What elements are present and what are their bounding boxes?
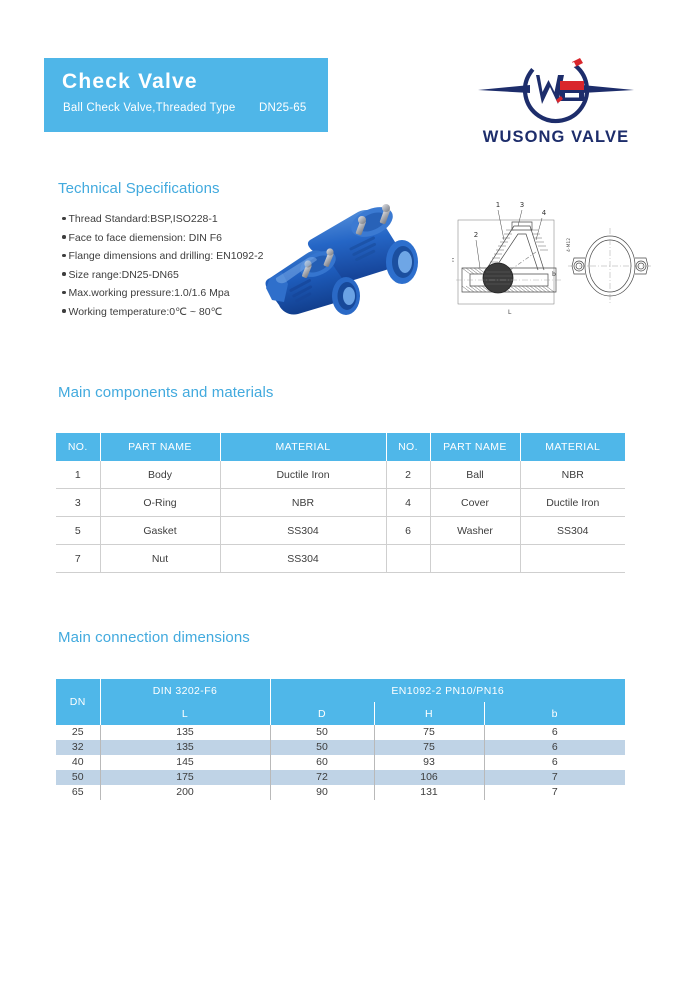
bullet-icon	[62, 235, 66, 239]
comp-header-mat-2: MATERIAL	[520, 433, 625, 461]
dim-header-L: L	[100, 702, 270, 725]
table-cell: 135	[100, 740, 270, 755]
table-cell: 4	[386, 489, 430, 517]
table-cell: 6	[386, 517, 430, 545]
table-cell: 93	[374, 755, 484, 770]
table-cell: 145	[100, 755, 270, 770]
dim-header-b: b	[484, 702, 625, 725]
dim-label-b: b	[552, 271, 556, 278]
dim-label-L: L	[508, 309, 512, 316]
table-cell: SS304	[220, 545, 386, 573]
table-cell: 75	[374, 740, 484, 755]
table-cell: 3	[56, 489, 100, 517]
comp-header-no-2: NO.	[386, 433, 430, 461]
valve-section-drawing: 1 3 4 2 H L b	[452, 196, 572, 316]
callout-3: 3	[520, 201, 524, 209]
table-cell: 25	[56, 725, 100, 740]
table-cell: Gasket	[100, 517, 220, 545]
product-size-range: DN25-65	[259, 102, 306, 114]
table-cell	[430, 545, 520, 573]
company-logo: WUSONG VALVE	[468, 52, 644, 160]
spec-item-label: Thread Standard:BSP,ISO228-1	[69, 213, 218, 225]
table-cell: 50	[270, 725, 374, 740]
table-cell: SS304	[220, 517, 386, 545]
table-row: 4014560936	[56, 755, 625, 770]
section-heading-dimensions: Main connection dimensions	[58, 629, 250, 646]
table-cell: 106	[374, 770, 484, 785]
table-cell: Body	[100, 461, 220, 489]
product-subtitle: Ball Check Valve,Threaded Type	[63, 102, 235, 114]
bullet-icon	[62, 272, 66, 276]
valve-front-view-drawing: 4-M12	[566, 222, 654, 310]
table-cell: 7	[484, 770, 625, 785]
bullet-icon	[62, 309, 66, 313]
table-cell: 72	[270, 770, 374, 785]
dimensions-sub-header-row: L D H b	[56, 702, 625, 725]
table-cell: 6	[484, 755, 625, 770]
table-cell: 50	[56, 770, 100, 785]
table-cell: 135	[100, 725, 270, 740]
components-table-header-row: NO. PART NAME MATERIAL NO. PART NAME MAT…	[56, 433, 625, 461]
callout-2: 2	[474, 231, 478, 239]
section-heading-technical: Technical Specifications	[58, 180, 220, 197]
table-cell	[386, 545, 430, 573]
table-cell: 7	[484, 785, 625, 800]
spec-item-label: Size range:DN25-DN65	[69, 269, 179, 281]
bullet-icon	[62, 217, 66, 221]
table-cell: Ductile Iron	[220, 461, 386, 489]
table-cell: 90	[270, 785, 374, 800]
table-cell: 65	[56, 785, 100, 800]
table-cell: SS304	[520, 517, 625, 545]
table-cell: Ductile Iron	[520, 489, 625, 517]
table-cell: 6	[484, 740, 625, 755]
table-cell: 175	[100, 770, 270, 785]
table-cell: Ball	[430, 461, 520, 489]
table-row: 7NutSS304	[56, 545, 625, 573]
spec-item-label: Max.working pressure:1.0/1.6 Mpa	[69, 287, 230, 299]
table-row: 2513550756	[56, 725, 625, 740]
table-row: 3213550756	[56, 740, 625, 755]
table-row: 3O-RingNBR4CoverDuctile Iron	[56, 489, 625, 517]
callout-1: 1	[496, 201, 500, 209]
spec-item-label: Working temperature:0℃ ~ 80℃	[69, 306, 223, 318]
table-cell: 200	[100, 785, 270, 800]
table-cell: 2	[386, 461, 430, 489]
dim-header-din-group: DIN 3202-F6	[100, 679, 270, 702]
section-heading-components: Main components and materials	[58, 384, 274, 401]
table-cell: NBR	[220, 489, 386, 517]
bullet-icon	[62, 291, 66, 295]
dim-header-D: D	[270, 702, 374, 725]
front-view-note: 4-M12	[566, 238, 572, 252]
brand-name: WUSONG VALVE	[468, 128, 644, 147]
dim-header-en-group: EN1092-2 PN10/PN16	[270, 679, 625, 702]
page-title: Check Valve	[62, 70, 198, 94]
spec-item-label: Face to face diemension: DIN F6	[69, 232, 223, 244]
table-cell: 7	[56, 545, 100, 573]
table-cell: 60	[270, 755, 374, 770]
table-cell: 1	[56, 461, 100, 489]
components-table: NO. PART NAME MATERIAL NO. PART NAME MAT…	[56, 433, 625, 573]
table-cell: 5	[56, 517, 100, 545]
table-cell: 6	[484, 725, 625, 740]
comp-header-part-1: PART NAME	[100, 433, 220, 461]
comp-header-mat-1: MATERIAL	[220, 433, 386, 461]
bullet-icon	[62, 254, 66, 258]
table-row: 5GasketSS3046WasherSS304	[56, 517, 625, 545]
table-row: 65200901317	[56, 785, 625, 800]
table-cell: Cover	[430, 489, 520, 517]
table-cell: 131	[374, 785, 484, 800]
table-cell: NBR	[520, 461, 625, 489]
table-row: 1BodyDuctile Iron2BallNBR	[56, 461, 625, 489]
table-cell	[520, 545, 625, 573]
table-cell: O-Ring	[100, 489, 220, 517]
table-cell: 32	[56, 740, 100, 755]
dim-header-dn: DN	[56, 679, 100, 725]
table-cell: 50	[270, 740, 374, 755]
table-cell: Washer	[430, 517, 520, 545]
spec-item-label: Flange dimensions and drilling: EN1092-2	[69, 250, 264, 262]
table-cell: 40	[56, 755, 100, 770]
table-row: 50175721067	[56, 770, 625, 785]
dim-label-H: H	[452, 257, 456, 262]
product-header-band: Check Valve Ball Check Valve,Threaded Ty…	[44, 58, 328, 132]
product-photo-ball-check-valve	[262, 192, 452, 332]
dimensions-table: DN DIN 3202-F6 EN1092-2 PN10/PN16 L D H …	[56, 679, 625, 800]
table-cell: 75	[374, 725, 484, 740]
dim-header-H: H	[374, 702, 484, 725]
comp-header-no-1: NO.	[56, 433, 100, 461]
dimensions-group-header-row: DN DIN 3202-F6 EN1092-2 PN10/PN16	[56, 679, 625, 702]
table-cell: Nut	[100, 545, 220, 573]
comp-header-part-2: PART NAME	[430, 433, 520, 461]
callout-4: 4	[542, 209, 547, 217]
wusong-logo-icon	[468, 52, 644, 128]
